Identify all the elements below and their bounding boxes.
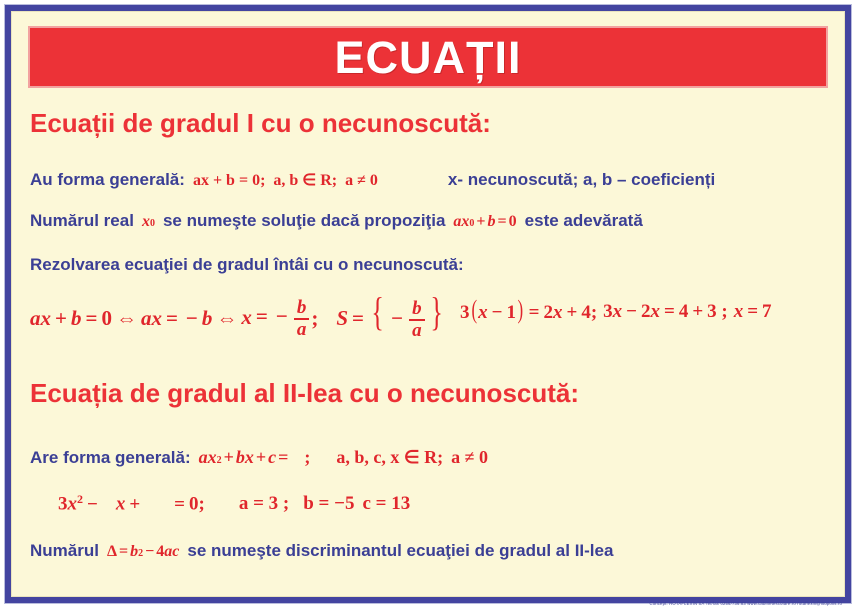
solution-definition-part2: se numeşte soluţie dacă propoziţia [163, 211, 445, 231]
solution-variable: x0 [142, 213, 155, 231]
general-form-formula-2: a, b ∈ R; [273, 170, 337, 190]
example-step-1: 3(x−1)=2x+4; [460, 300, 597, 324]
eq-step-1: ax+b=0 [30, 306, 112, 331]
quadratic-formula-3: a ≠ 0 [451, 447, 488, 468]
discriminant-formula: Δ=b2−4ac [107, 543, 179, 561]
general-form-label: Au forma generală: [30, 170, 185, 190]
quadratic-formula-1: ax2+bx+c=; [199, 447, 311, 468]
solving-equation-row: ax+b=0 ⇔ ax=−b ⇔ x=−ba ; S={−ba} [30, 296, 446, 341]
solving-method-line: Rezolvarea ecuaţiei de gradul întâi cu o… [30, 255, 464, 275]
section-heading-degree-two: Ecuația de gradul al II-lea cu o necunos… [30, 378, 579, 409]
general-form-formula-3: a ≠ 0 [345, 172, 378, 190]
example-quadratic-expression: 3x2−x+=0; [58, 492, 205, 516]
discriminant-line: Numărul Δ=b2−4ac se numeşte discriminant… [30, 541, 613, 561]
solution-definition-part1: Numărul real [30, 211, 134, 231]
example-coefficient-a: a = 3 ; [239, 493, 289, 515]
general-form-formula-1: ax + b = 0; [193, 172, 265, 190]
quadratic-general-form-line: Are forma generală: ax2+bx+c=; a, b, c, … [30, 447, 488, 468]
brace-open-icon: { [371, 296, 383, 328]
general-form-line-1: Au forma generală: ax + b = 0; a, b ∈ R;… [30, 170, 715, 190]
example-degree-one: 3(x−1)=2x+4; 3x−2x=4+3 ; x=7 [460, 300, 772, 324]
eq-step-3: x=−ba [241, 298, 311, 340]
discriminant-part2: se numeşte discriminantul ecuaţiei de gr… [187, 541, 613, 561]
brace-close-icon: } [430, 296, 442, 328]
quadratic-formula-2: a, b, c, x ∈ R; [336, 447, 443, 468]
eq-separator: ; [311, 306, 318, 331]
eq-step-2: ax=−b [141, 306, 212, 331]
example-coefficient-c: c = 13 [362, 493, 410, 515]
section-heading-degree-one: Ecuații de gradul I cu o necunoscută: [30, 108, 491, 139]
example-step-3: x=7 [734, 301, 772, 323]
solution-definition-line: Numărul real x0 se numeşte soluţie dacă … [30, 211, 643, 231]
page-title: ECUAȚII [335, 35, 522, 80]
credit-line: Concept: ROTAFLEXIN SA Tel/fax 0256/736.… [649, 601, 842, 606]
equivalence-icon: ⇔ [212, 306, 241, 331]
poster: ECUAȚII Ecuații de gradul I cu o necunos… [0, 0, 856, 608]
general-form-note: x- necunoscută; a, b – coeficienți [448, 170, 715, 190]
solution-definition-part3: este adevărată [525, 211, 643, 231]
solution-set: S={−ba} [336, 296, 446, 341]
equivalence-icon: ⇔ [112, 306, 141, 331]
title-banner: ECUAȚII [28, 26, 828, 88]
example-degree-two: 3x2−x+=0; a = 3 ; b = −5 c = 13 [58, 492, 410, 516]
example-coefficient-b: b = −5 [303, 493, 354, 515]
discriminant-part1: Numărul [30, 541, 99, 561]
example-step-2: 3x−2x=4+3 ; [603, 301, 728, 323]
solution-proposition-formula: ax0+b=0 [453, 213, 516, 231]
quadratic-form-label: Are forma generală: [30, 448, 191, 468]
